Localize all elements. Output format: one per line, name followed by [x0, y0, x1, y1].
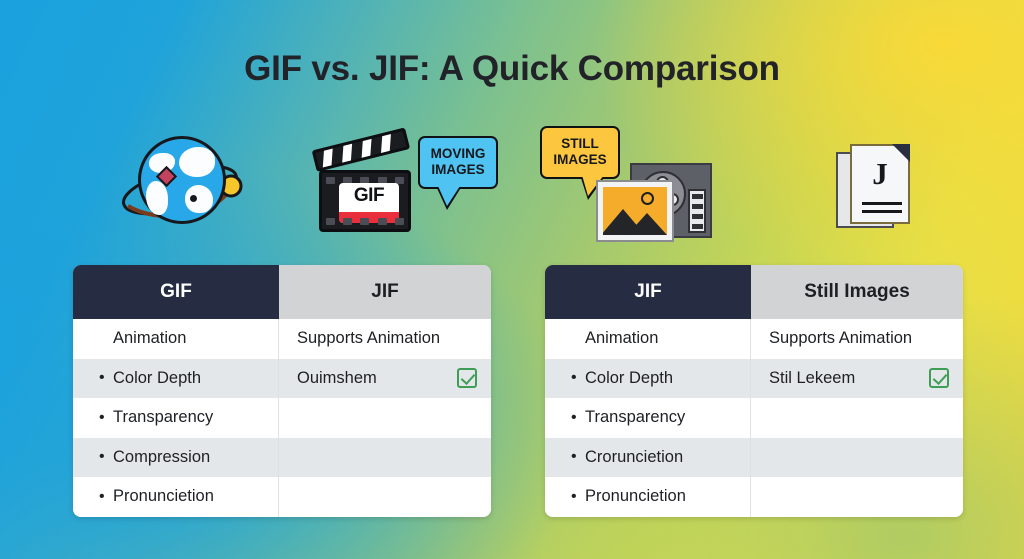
- value-label: Ouimshem: [297, 369, 377, 388]
- feature-cell: •Color Depth: [545, 359, 751, 399]
- table-header-col1: JIF: [545, 265, 751, 319]
- value-cell: Stil Lekeem: [751, 359, 963, 399]
- value-label: Supports Animation: [769, 329, 912, 348]
- value-label: Supports Animation: [297, 329, 440, 348]
- table-header-row: JIF Still Images: [545, 265, 963, 319]
- value-cell: [751, 438, 963, 478]
- value-label: Stil Lekeem: [769, 369, 855, 388]
- feature-label: Color Depth: [113, 369, 201, 388]
- table-row: •Color Depth Stil Lekeem: [545, 359, 963, 399]
- feature-label: Pronuncietion: [113, 487, 214, 506]
- check-icon: [929, 368, 949, 388]
- j-document-icon: J: [836, 138, 926, 243]
- table-row: •Transparency: [73, 398, 491, 438]
- feature-label: Color Depth: [585, 369, 673, 388]
- feature-cell: •Animation: [545, 319, 751, 359]
- moving-images-line1: MOVING: [430, 146, 486, 162]
- value-cell: Supports Animation: [279, 319, 491, 359]
- table-row: •Croruncietion: [545, 438, 963, 478]
- table-row: •Color Depth Ouimshem: [73, 359, 491, 399]
- photo-image-icon: [596, 180, 674, 242]
- sun-icon: [641, 192, 654, 205]
- feature-cell: •Compression: [73, 438, 279, 478]
- gif-comparison-table: GIF JIF •Animation Supports Animation •C…: [73, 265, 491, 517]
- document-letter: J: [852, 157, 908, 191]
- check-icon: [457, 368, 477, 388]
- table-row: •Pronuncietion: [73, 477, 491, 517]
- still-images-line1: STILL: [552, 136, 608, 152]
- table-body: •Animation Supports Animation •Color Dep…: [73, 319, 491, 517]
- comparison-infographic: GIF vs. JIF: A Quick Comparison: [0, 0, 1024, 559]
- feature-cell: •Transparency: [545, 398, 751, 438]
- globe-dot-marker: [190, 195, 197, 202]
- value-cell: Supports Animation: [751, 319, 963, 359]
- feature-label: Animation: [113, 329, 186, 348]
- film-strip-icon: [688, 189, 706, 233]
- still-images-bubble: STILL IMAGES: [540, 126, 620, 179]
- feature-label: Transparency: [585, 408, 685, 427]
- globe-sphere: [138, 136, 226, 224]
- value-cell: [751, 398, 963, 438]
- table-row: •Compression: [73, 438, 491, 478]
- feature-cell: •Animation: [73, 319, 279, 359]
- feature-cell: •Pronuncietion: [545, 477, 751, 517]
- table-row: •Animation Supports Animation: [545, 319, 963, 359]
- table-header-row: GIF JIF: [73, 265, 491, 319]
- value-cell: [279, 477, 491, 517]
- jif-comparison-table: JIF Still Images •Animation Supports Ani…: [545, 265, 963, 517]
- clapperboard-body: GIF: [319, 170, 411, 232]
- table-header-col2: JIF: [279, 265, 491, 319]
- still-images-group: STILL IMAGES: [540, 118, 725, 258]
- page-title: GIF vs. JIF: A Quick Comparison: [0, 49, 1024, 89]
- feature-cell: •Transparency: [73, 398, 279, 438]
- table-header-col2: Still Images: [751, 265, 963, 319]
- feature-cell: •Croruncietion: [545, 438, 751, 478]
- value-cell: Ouimshem: [279, 359, 491, 399]
- feature-label: Pronuncietion: [585, 487, 686, 506]
- feature-label: Transparency: [113, 408, 213, 427]
- feature-label: Croruncietion: [585, 448, 683, 467]
- feature-cell: •Pronuncietion: [73, 477, 279, 517]
- table-row: •Pronuncietion: [545, 477, 963, 517]
- value-cell: [751, 477, 963, 517]
- icon-strip: GIF MOVING IMAGES STILL IMAGES: [0, 108, 1024, 253]
- table-body: •Animation Supports Animation •Color Dep…: [545, 319, 963, 517]
- table-row: •Transparency: [545, 398, 963, 438]
- gif-clapperboard-icon: GIF MOVING IMAGES: [313, 136, 423, 241]
- moving-images-line2: IMAGES: [430, 162, 486, 178]
- document-front-page: J: [850, 144, 910, 224]
- value-cell: [279, 438, 491, 478]
- feature-label: Compression: [113, 448, 210, 467]
- feature-label: Animation: [585, 329, 658, 348]
- gif-text: GIF: [354, 183, 384, 209]
- table-row: •Animation Supports Animation: [73, 319, 491, 359]
- still-images-line2: IMAGES: [552, 152, 608, 168]
- value-cell: [279, 398, 491, 438]
- clapperboard-arm: [312, 127, 410, 172]
- moving-images-bubble: MOVING IMAGES: [418, 136, 498, 189]
- globe-orbit-icon: [118, 128, 246, 238]
- table-header-col1: GIF: [73, 265, 279, 319]
- feature-cell: •Color Depth: [73, 359, 279, 399]
